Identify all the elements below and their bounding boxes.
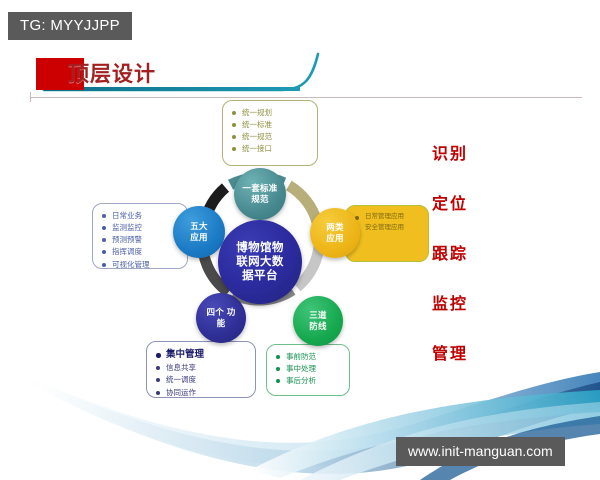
hub-line-2: 联网大数: [236, 256, 284, 268]
node-three-lines[interactable]: 三道 防线: [293, 296, 343, 346]
list-item: 协同运作: [156, 387, 247, 399]
list-item: 监测监控: [102, 222, 179, 234]
node-standard[interactable]: 一套标准 规范: [234, 168, 286, 220]
list-item: 事后分析: [276, 375, 341, 387]
node-two-types-line-1: 两类: [326, 222, 344, 232]
keyword-monitor: 监控: [432, 290, 522, 314]
list-item: 统一调度: [156, 374, 247, 386]
list-item: 统一规范: [232, 131, 309, 143]
callout-heading: 集中管理: [156, 348, 247, 362]
list-item: 事中处理: [276, 363, 341, 375]
node-four-functions-line-1: 四个 功: [206, 307, 235, 317]
list-item: 日常管理应用: [355, 212, 420, 223]
keyword-column: 识别 定位 跟踪 监控 管理: [432, 140, 522, 364]
watermark-url: www.init-manguan.com: [396, 437, 565, 466]
callout-bottom-right-defense: 事前防范 事中处理 事后分析: [266, 344, 350, 396]
list-item: 统一标准: [232, 119, 309, 131]
keyword-manage: 管理: [432, 340, 522, 364]
node-applications-line-2: 应用: [190, 232, 208, 242]
list-item: 信息共享: [156, 362, 247, 374]
list-item: 统一规划: [232, 107, 309, 119]
keyword-identify: 识别: [432, 140, 522, 164]
node-two-types[interactable]: 两类 应用: [310, 208, 360, 258]
node-standard-line-1: 一套标准: [242, 183, 277, 193]
list-item: 可视化管理: [102, 259, 179, 271]
slide-canvas: TG: MYYJJPP 顶层设计 博物馆物 联网大数 据平台 一套标准 规范: [0, 0, 600, 480]
keyword-locate: 定位: [432, 190, 522, 214]
node-four-functions-line-2: 能: [217, 318, 226, 328]
hub-line-3: 据平台: [242, 270, 278, 282]
node-standard-line-2: 规范: [251, 194, 269, 204]
list-item: 事前防范: [276, 351, 341, 363]
list-item: 安全管理应用: [355, 223, 420, 234]
hub-line-1: 博物馆物: [236, 242, 284, 254]
list-item: 指挥调度: [102, 246, 179, 258]
list-item: 预测预警: [102, 234, 179, 246]
node-four-functions[interactable]: 四个 功 能: [196, 293, 246, 343]
node-applications[interactable]: 五大 应用: [173, 206, 225, 258]
callout-bottom-left-centralized: 集中管理 信息共享 统一调度 协同运作: [146, 341, 256, 398]
keyword-track: 跟踪: [432, 240, 522, 264]
list-item: 日常业务: [102, 210, 179, 222]
node-two-types-line-2: 应用: [326, 233, 344, 243]
tg-tag: TG: MYYJJPP: [8, 12, 132, 40]
callout-top-standards: 统一规划 统一标准 统一规范 统一接口: [222, 100, 318, 166]
page-title: 顶层设计: [68, 58, 156, 88]
node-three-lines-line-1: 三道: [309, 310, 327, 320]
node-applications-line-1: 五大: [190, 221, 208, 231]
node-three-lines-line-2: 防线: [309, 321, 327, 331]
list-item: 统一接口: [232, 143, 309, 155]
hub-node: 博物馆物 联网大数 据平台: [218, 220, 302, 304]
